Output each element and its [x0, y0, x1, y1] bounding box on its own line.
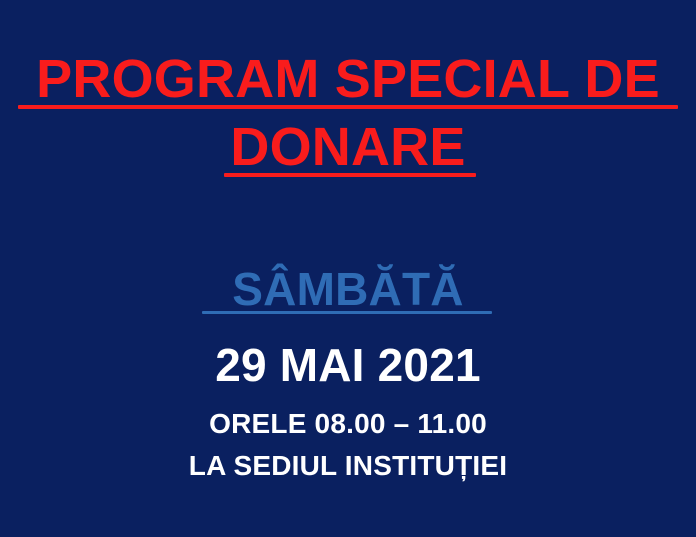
headline-line-2-text: DONARE: [230, 117, 465, 177]
event-hours-text: ORELE 08.00 – 11.00: [209, 408, 487, 439]
event-date: 29 MAI 2021: [0, 342, 696, 388]
day-of-week: SÂMBĂTĂ: [0, 266, 696, 312]
event-date-text: 29 MAI 2021: [215, 339, 481, 391]
day-of-week-text: SÂMBĂTĂ: [232, 263, 463, 315]
donation-announcement-poster: PROGRAM SPECIAL DE DONARE SÂMBĂTĂ 29 MAI…: [0, 0, 696, 537]
event-hours: ORELE 08.00 – 11.00: [0, 410, 696, 438]
headline-line-2-underline: [224, 173, 476, 177]
event-location-text: LA SEDIUL INSTITUȚIEI: [189, 450, 507, 481]
headline-line-2: DONARE: [0, 120, 696, 174]
headline-line-1: PROGRAM SPECIAL DE: [0, 52, 696, 106]
headline-line-1-text: PROGRAM SPECIAL DE: [36, 49, 660, 109]
headline-line-1-underline: [18, 105, 678, 109]
event-location: LA SEDIUL INSTITUȚIEI: [0, 452, 696, 480]
day-of-week-underline: [202, 311, 492, 314]
